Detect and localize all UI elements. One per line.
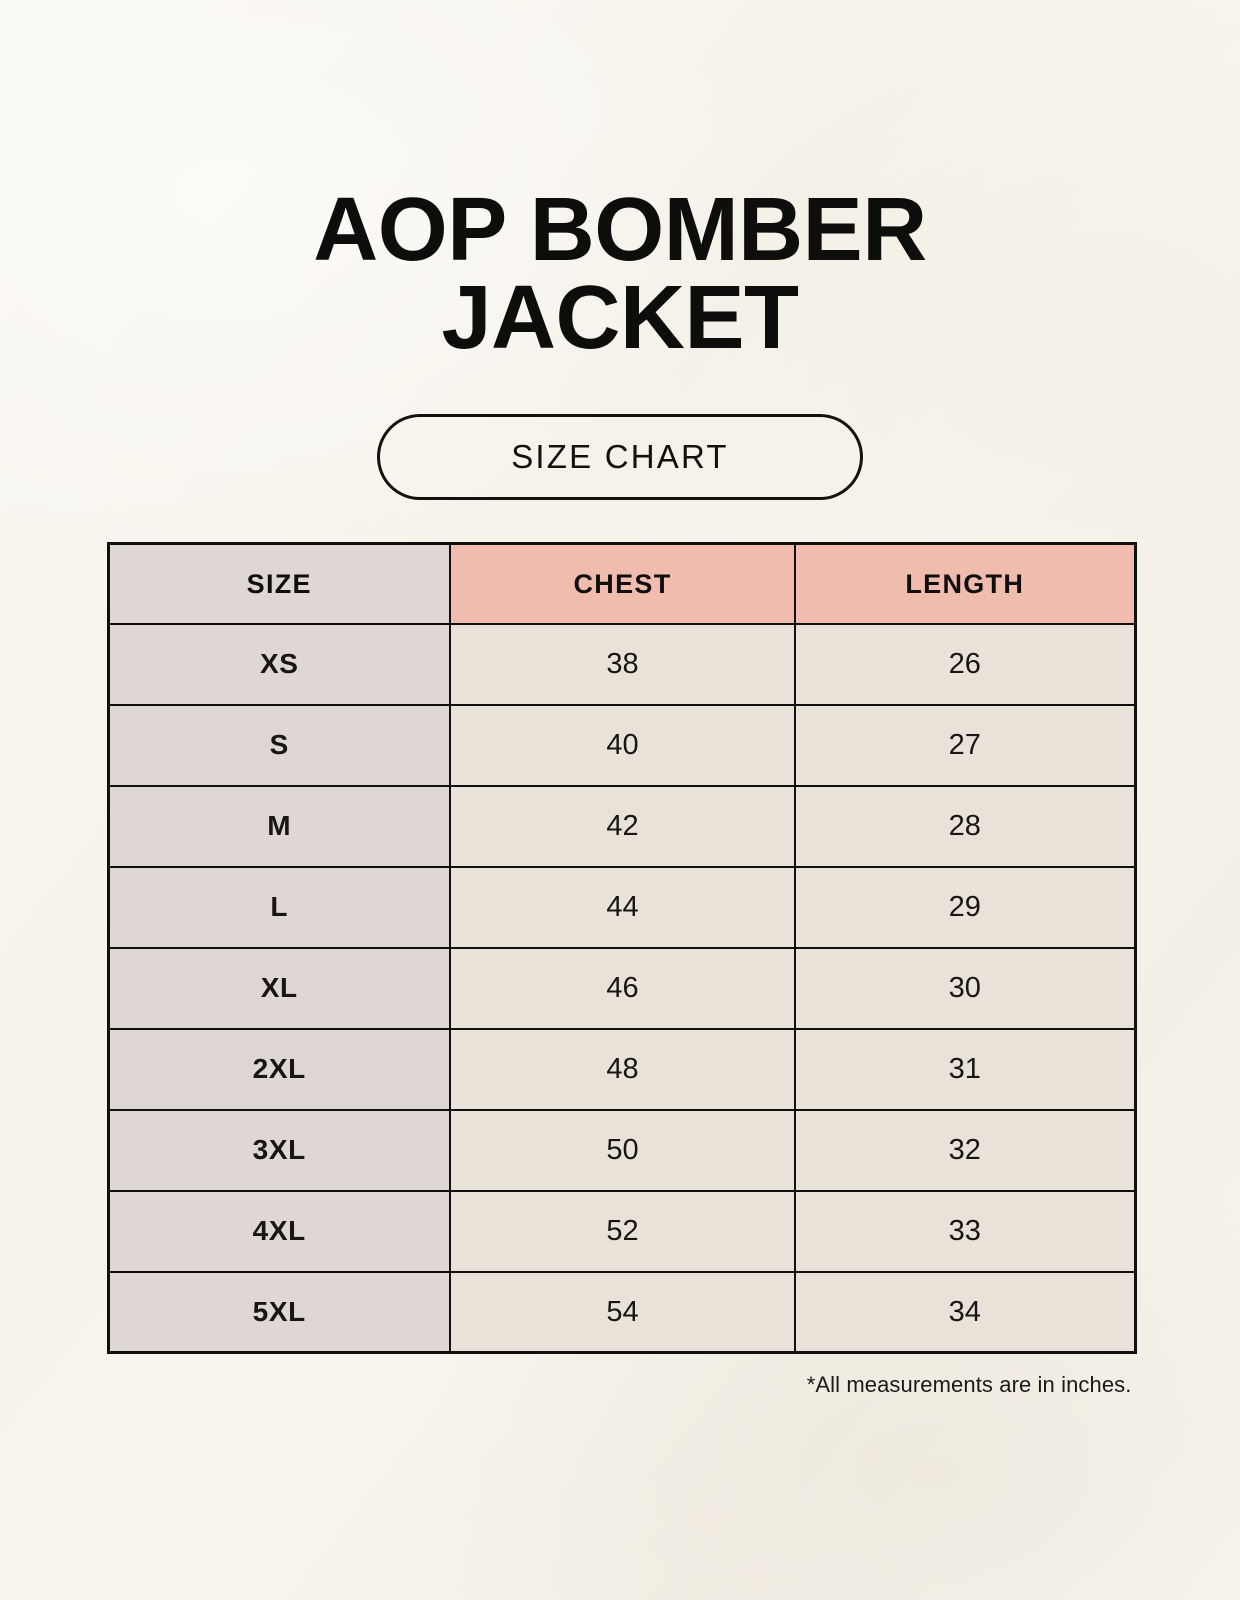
table-row: XS 38 26 <box>108 624 1135 705</box>
cell-chest: 52 <box>450 1191 795 1272</box>
cell-chest: 42 <box>450 786 795 867</box>
cell-size: S <box>108 705 450 786</box>
cell-size: XS <box>108 624 450 705</box>
column-header-length: LENGTH <box>795 544 1135 624</box>
cell-size: XL <box>108 948 450 1029</box>
cell-chest: 38 <box>450 624 795 705</box>
cell-size: 4XL <box>108 1191 450 1272</box>
title-block: AOP BOMBER JACKET <box>0 0 1240 362</box>
cell-length: 29 <box>795 867 1135 948</box>
table-row: 4XL 52 33 <box>108 1191 1135 1272</box>
page-title: AOP BOMBER JACKET <box>0 186 1240 362</box>
cell-chest: 40 <box>450 705 795 786</box>
cell-length: 28 <box>795 786 1135 867</box>
cell-chest: 54 <box>450 1272 795 1353</box>
column-header-size: SIZE <box>108 544 450 624</box>
cell-length: 33 <box>795 1191 1135 1272</box>
cell-size: 2XL <box>108 1029 450 1110</box>
cell-chest: 48 <box>450 1029 795 1110</box>
cell-length: 31 <box>795 1029 1135 1110</box>
cell-length: 26 <box>795 624 1135 705</box>
cell-length: 30 <box>795 948 1135 1029</box>
table-row: XL 46 30 <box>108 948 1135 1029</box>
cell-size: M <box>108 786 450 867</box>
table-row: 5XL 54 34 <box>108 1272 1135 1353</box>
column-header-chest: CHEST <box>450 544 795 624</box>
cell-size: 3XL <box>108 1110 450 1191</box>
cell-size: L <box>108 867 450 948</box>
size-chart-table: SIZE CHEST LENGTH XS 38 26 S 40 27 M <box>107 542 1137 1354</box>
table-row: S 40 27 <box>108 705 1135 786</box>
table-row: 2XL 48 31 <box>108 1029 1135 1110</box>
size-chart-badge: SIZE CHART <box>377 414 863 500</box>
table-row: L 44 29 <box>108 867 1135 948</box>
measurement-units-note: *All measurements are in inches. <box>107 1372 1134 1398</box>
badge-container: SIZE CHART <box>0 414 1240 500</box>
cell-chest: 46 <box>450 948 795 1029</box>
table-row: M 42 28 <box>108 786 1135 867</box>
table-header-row: SIZE CHEST LENGTH <box>108 544 1135 624</box>
cell-chest: 50 <box>450 1110 795 1191</box>
size-chart-page: AOP BOMBER JACKET SIZE CHART SIZE CHEST … <box>0 0 1240 1600</box>
cell-length: 34 <box>795 1272 1135 1353</box>
table-body: XS 38 26 S 40 27 M 42 28 L 44 29 <box>108 624 1135 1353</box>
table-header: SIZE CHEST LENGTH <box>108 544 1135 624</box>
cell-chest: 44 <box>450 867 795 948</box>
cell-size: 5XL <box>108 1272 450 1353</box>
cell-length: 32 <box>795 1110 1135 1191</box>
size-table-container: SIZE CHEST LENGTH XS 38 26 S 40 27 M <box>107 542 1134 1354</box>
table-row: 3XL 50 32 <box>108 1110 1135 1191</box>
cell-length: 27 <box>795 705 1135 786</box>
